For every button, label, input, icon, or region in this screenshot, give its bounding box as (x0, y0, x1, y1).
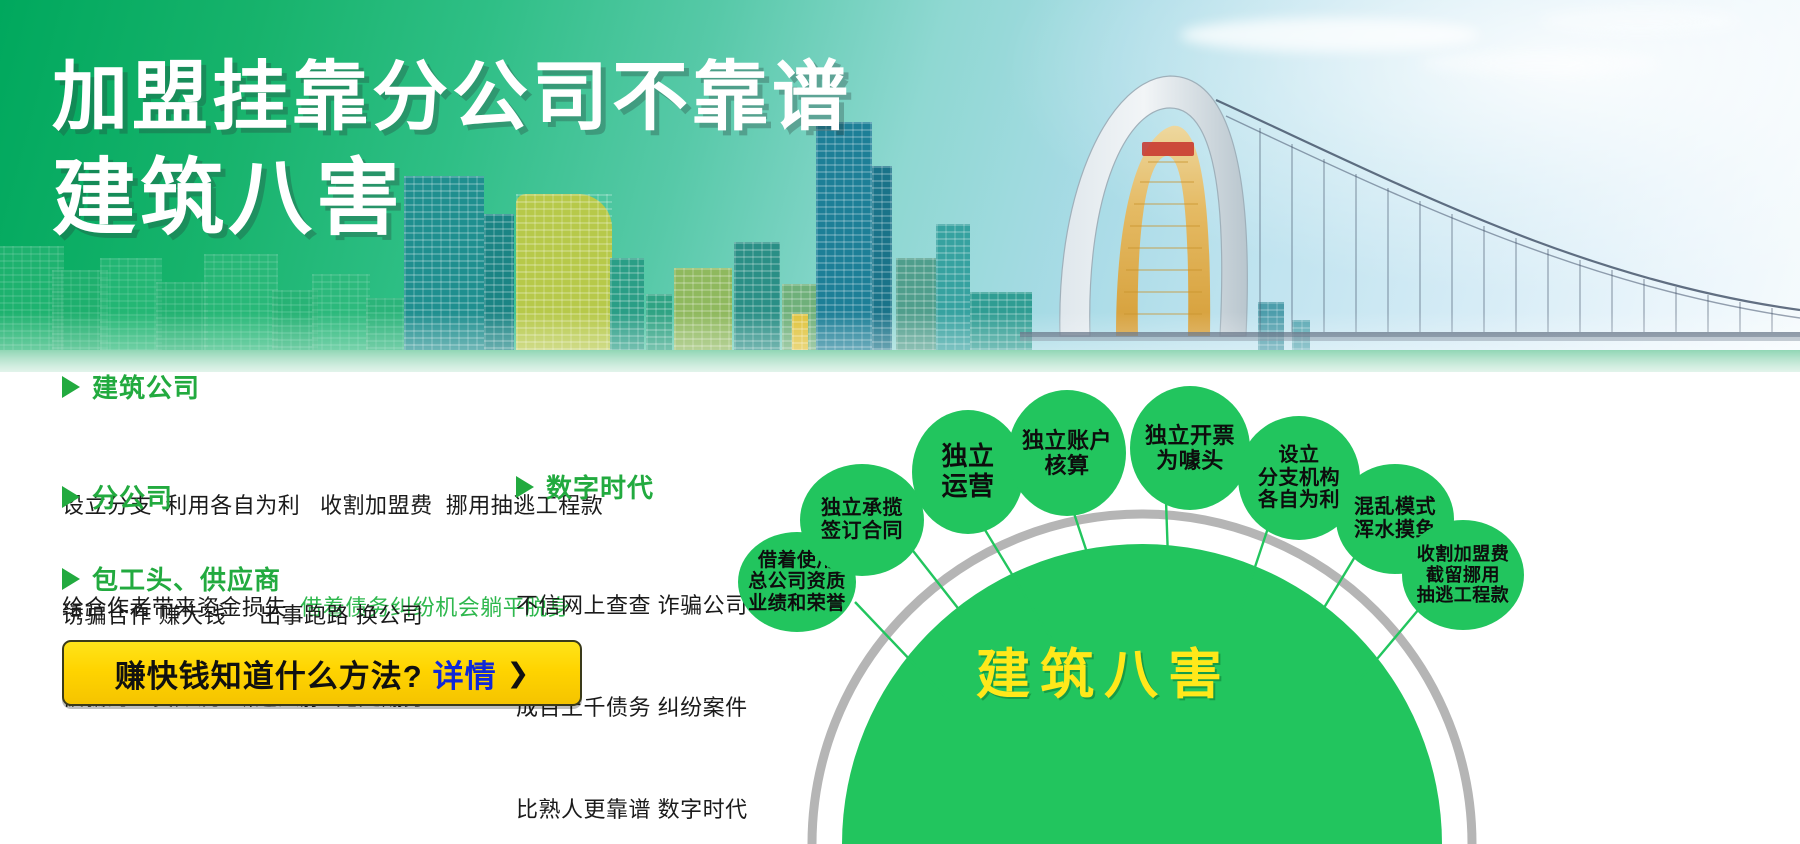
hero-fade (0, 312, 1800, 372)
left-content: 建筑公司 设立分支 利用各自为利 收割加盟费 挪用抽逃工程款 给合作者带来资金损… (0, 372, 790, 844)
section-title: 分公司 (92, 478, 173, 515)
headline-line-1: 加盟挂靠分公司不靠谱 (52, 60, 852, 136)
bubble-text: 独立账户 核算 (1022, 428, 1112, 478)
poster-root: 加盟挂靠分公司不靠谱 建筑八害 建筑公司 设立分支 利用各自为利 收割加盟费 挪… (0, 0, 1800, 844)
body-line: 比熟人更靠谱 数字时代 (516, 793, 748, 827)
cta-main-label: 赚快钱知道什么方法? (115, 651, 423, 696)
section-title: 建筑公司 (92, 368, 200, 405)
bubble-b5[interactable]: 独立开票 为噱头 (1130, 386, 1250, 510)
cta-button[interactable]: 赚快钱知道什么方法? 详情 ❯ (62, 640, 582, 706)
section-header: 建筑公司 (62, 368, 603, 405)
body-line: 不信网上查查 诈骗公司 (516, 589, 748, 623)
triangle-right-icon (62, 376, 80, 398)
cta-detail-link[interactable]: 详情 (433, 651, 497, 696)
bridge-illustration (1020, 64, 1800, 354)
section-header: 数字时代 (516, 468, 748, 505)
hero-banner: 加盟挂靠分公司不靠谱 建筑八害 (0, 0, 1800, 372)
hero-headline: 加盟挂靠分公司不靠谱 建筑八害 (52, 60, 852, 240)
bubble-text: 独立开票 为噱头 (1145, 423, 1235, 473)
bubble-b2[interactable]: 独立承揽 签订合同 (800, 464, 924, 576)
section-title: 数字时代 (546, 468, 654, 505)
bubble-diagram: 借着使用 总公司资质 业绩和荣誉 独立承揽 签订合同 独立 运营 独立账户 核算 (790, 372, 1800, 844)
section-title: 包工头、供应商 (92, 560, 281, 597)
section-header: 包工头、供应商 (62, 560, 426, 597)
triangle-right-icon (62, 568, 80, 590)
triangle-right-icon (62, 486, 80, 508)
bubble-text: 设立 分支机构 各自为利 (1258, 444, 1340, 512)
bridge-svg (1020, 64, 1800, 354)
bubble-text: 独立承揽 签订合同 (821, 497, 903, 543)
triangle-right-icon (516, 476, 534, 498)
bubble-b8[interactable]: 收割加盟费 截留挪用 抽逃工程款 (1402, 520, 1524, 630)
headline-line-2: 建筑八害 (52, 156, 852, 240)
chevron-right-icon: ❯ (507, 658, 530, 689)
bubble-text: 独立 运营 (941, 442, 994, 501)
cloud-icon (1180, 18, 1480, 52)
section-header: 分公司 (62, 478, 423, 515)
cloud-icon (1540, 8, 1740, 34)
bubble-text: 收割加盟费 截留挪用 抽逃工程款 (1417, 544, 1510, 606)
bubble-b3[interactable]: 独立 运营 (912, 410, 1024, 534)
bubble-b4[interactable]: 独立账户 核算 (1008, 390, 1126, 516)
diagram-center-label: 建筑八害 (976, 630, 1232, 709)
